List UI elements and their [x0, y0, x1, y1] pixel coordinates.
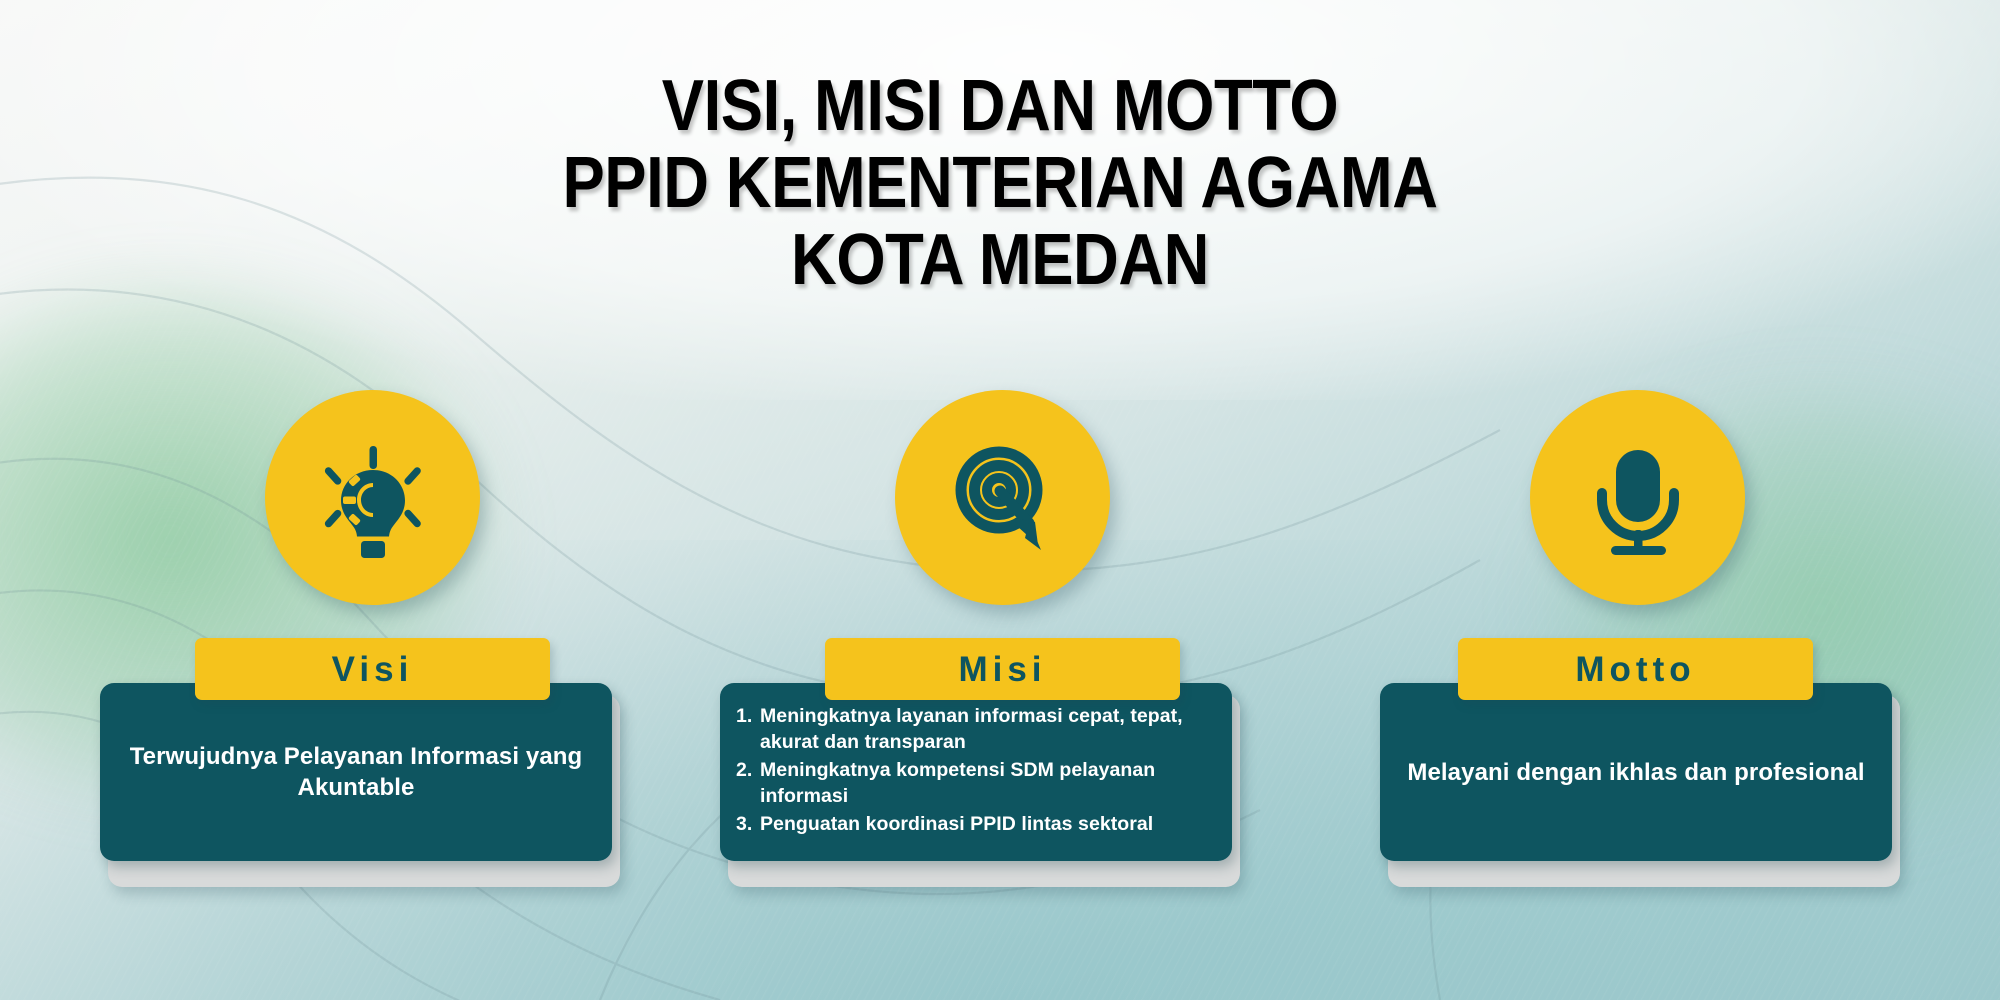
- title-line-3: KOTA MEDAN: [120, 222, 1880, 299]
- badge-label-visi: Visi: [332, 652, 414, 687]
- card-stack-motto: Melayani dengan ikhlas dan profesional: [1380, 683, 1900, 861]
- title-line-2: PPID KEMENTERIAN AGAMA: [120, 145, 1880, 222]
- list-item-number: 2.: [736, 757, 752, 783]
- card-misi: 1. Meningkatnya layanan informasi cepat,…: [720, 683, 1232, 861]
- badge-motto: Motto: [1458, 638, 1813, 700]
- list-item: 2. Meningkatnya kompetensi SDM pelayanan…: [736, 757, 1214, 809]
- card-stack-misi: 1. Meningkatnya layanan informasi cepat,…: [720, 683, 1240, 861]
- lightbulb-idea-icon: [313, 438, 433, 558]
- card-stack-visi: Terwujudnya Pelayanan Informasi yang Aku…: [100, 683, 620, 861]
- title-line-1: VISI, MISI DAN MOTTO: [120, 68, 1880, 145]
- target-dart-icon: [943, 438, 1063, 558]
- card-motto: Melayani dengan ikhlas dan profesional: [1380, 683, 1892, 861]
- list-item: 3. Penguatan koordinasi PPID lintas sekt…: [736, 811, 1214, 837]
- microphone-icon: [1578, 438, 1698, 558]
- badge-label-misi: Misi: [958, 652, 1046, 687]
- card-body-visi: Terwujudnya Pelayanan Informasi yang Aku…: [124, 741, 588, 803]
- list-item-number: 3.: [736, 811, 752, 837]
- badge-visi: Visi: [195, 638, 550, 700]
- list-item-text: Penguatan koordinasi PPID lintas sektora…: [760, 813, 1153, 835]
- icon-badge-visi: [265, 390, 480, 605]
- badge-label-motto: Motto: [1575, 652, 1695, 687]
- list-item-text: Meningkatnya kompetensi SDM pelayanan in…: [760, 759, 1155, 807]
- list-item: 1. Meningkatnya layanan informasi cepat,…: [736, 703, 1214, 755]
- card-body-motto: Melayani dengan ikhlas dan profesional: [1407, 757, 1864, 788]
- infographic-canvas: VISI, MISI DAN MOTTO PPID KEMENTERIAN AG…: [0, 0, 2000, 1000]
- list-item-text: Meningkatnya layanan informasi cepat, te…: [760, 705, 1183, 753]
- card-visi: Terwujudnya Pelayanan Informasi yang Aku…: [100, 683, 612, 861]
- list-item-number: 1.: [736, 703, 752, 729]
- misi-list: 1. Meningkatnya layanan informasi cepat,…: [736, 703, 1214, 839]
- icon-badge-motto: [1530, 390, 1745, 605]
- icon-badge-misi: [895, 390, 1110, 605]
- page-title: VISI, MISI DAN MOTTO PPID KEMENTERIAN AG…: [0, 68, 2000, 299]
- badge-misi: Misi: [825, 638, 1180, 700]
